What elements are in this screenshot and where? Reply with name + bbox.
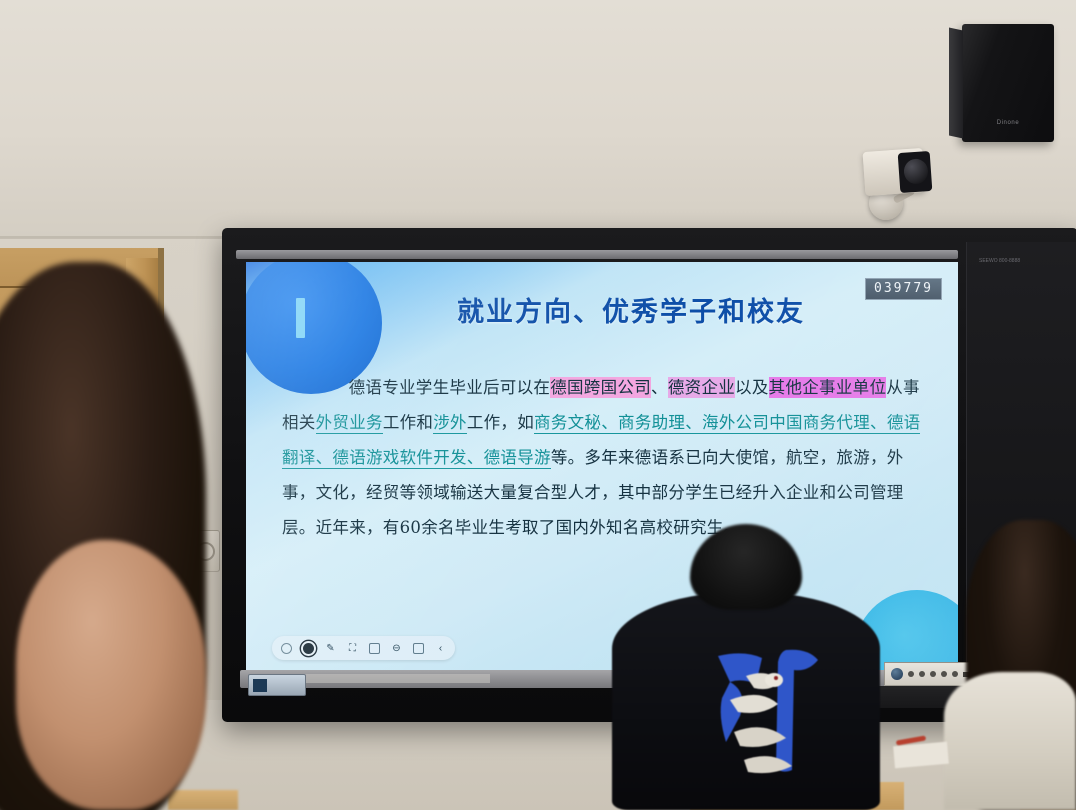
slide-section-numeral (296, 298, 305, 338)
tshirt-snake-graphic (700, 648, 836, 788)
desk-paper (893, 742, 949, 769)
highlight-german-funded-enterprise: 德资企业 (668, 377, 735, 398)
term-foreign-affairs: 涉外 (433, 413, 467, 434)
annotation-toolbar[interactable]: ✎ ⛶ ⊖ ‹ (272, 636, 455, 660)
control-button-3[interactable] (930, 671, 936, 677)
desk-left (168, 790, 238, 810)
board-corner-label (248, 674, 306, 696)
smartboard-screen[interactable]: 039779 就业方向、优秀学子和校友 德语专业学生毕业后可以在德国跨国公司、德… (246, 262, 958, 672)
select-frame-icon[interactable]: ⛶ (347, 643, 358, 654)
pen-icon[interactable]: ✎ (325, 643, 336, 654)
student-right-shirt (944, 672, 1076, 810)
control-button-4[interactable] (941, 671, 947, 677)
term-foreign-trade: 外贸业务 (316, 413, 383, 434)
slide-paragraph: 德语专业学生毕业后可以在德国跨国公司、德资企业以及其他企事业单位从事相关外贸业务… (282, 370, 930, 545)
camera-lens-icon (898, 151, 933, 193)
collapse-chevron-icon[interactable]: ‹ (435, 643, 446, 654)
control-button-1[interactable] (908, 671, 914, 677)
power-button-icon[interactable] (891, 668, 903, 680)
board-side-label: SEEWO 800-8888 (979, 258, 1020, 266)
highlight-other-enterprises: 其他企事业单位 (769, 377, 887, 398)
wall-speaker: Dinone (962, 24, 1054, 142)
foreground-person-face (16, 540, 206, 810)
circle-outline-icon[interactable] (281, 643, 292, 654)
highlight-german-multinational: 德国跨国公司 (550, 377, 651, 398)
keyboard-icon[interactable] (369, 643, 380, 654)
wall-upper (0, 0, 1076, 238)
speaker-brand-label: Dinone (997, 120, 1020, 126)
slide-code-badge: 039779 (865, 278, 942, 300)
control-button-2[interactable] (919, 671, 925, 677)
board-top-trim (236, 250, 958, 259)
minus-circle-icon[interactable]: ⊖ (391, 643, 402, 654)
record-dot-icon[interactable] (303, 643, 314, 654)
control-button-5[interactable] (952, 671, 958, 677)
mobile-device-icon[interactable] (413, 643, 424, 654)
slide-body-text: 德语专业学生毕业后可以在德国跨国公司、德资企业以及其他企事业单位从事相关外贸业务… (282, 370, 930, 545)
classroom-scene: Dinone SEEWO 800-8888 039779 就业方向、优秀学子和校… (0, 0, 1076, 810)
slide-title: 就业方向、优秀学子和校友 (396, 290, 866, 329)
